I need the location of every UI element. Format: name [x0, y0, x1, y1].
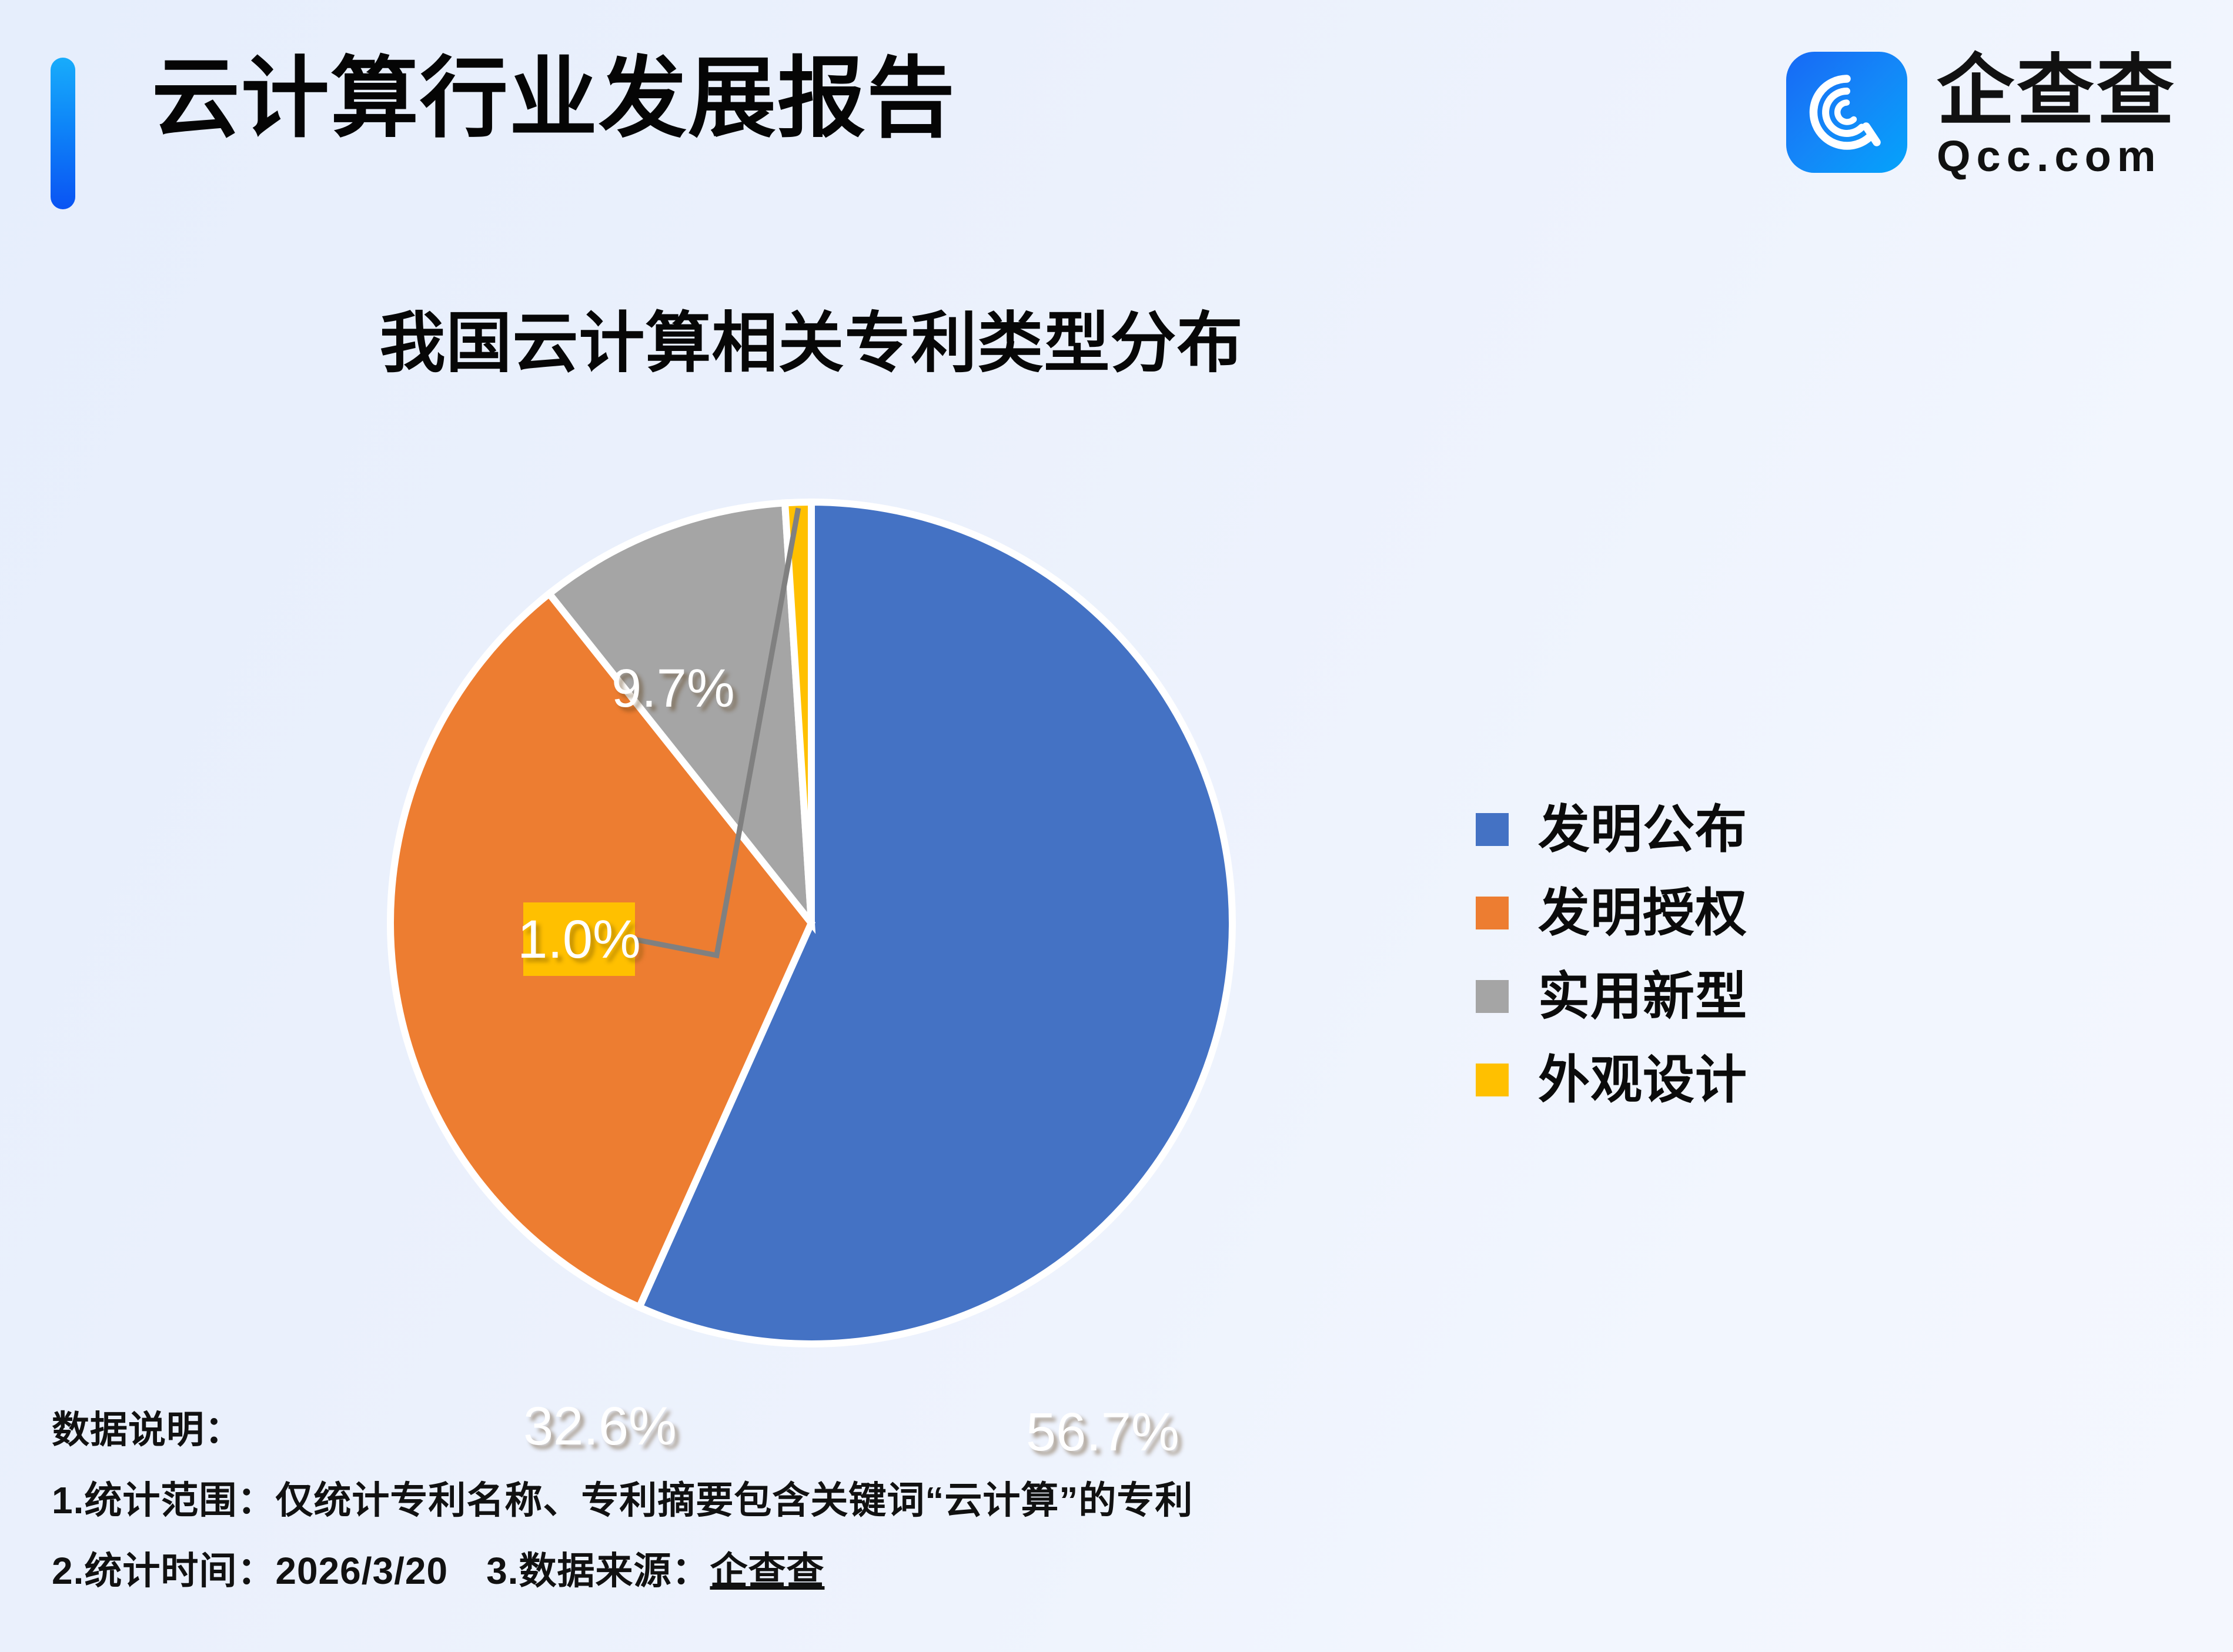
data-notes: 数据说明： 1.统计范围：仅统计专利名称、专利摘要包含关键词“云计算”的专利 2…	[52, 1411, 2051, 1590]
brand-url: Qcc.com	[1937, 135, 2177, 178]
legend-label: 实用新型	[1538, 971, 1747, 1022]
legend-item-fa-ming-gong-bu[interactable]: 发明公布	[1476, 788, 1887, 871]
qcc-spiral-logo-icon	[1786, 52, 1907, 173]
page-title: 云计算行业发展报告	[152, 54, 956, 142]
legend-item-wai-guan-she-ji[interactable]: 外观设计	[1476, 1038, 1887, 1122]
notes-line-time-source: 2.统计时间：2026/3/20 3.数据来源：企查查	[52, 1552, 2051, 1590]
legend-item-shi-yong-xin-xing[interactable]: 实用新型	[1476, 955, 1887, 1038]
page-header: 云计算行业发展报告 企查查 Qcc.com	[0, 0, 2233, 247]
brand-name-cn: 企查查	[1937, 52, 2177, 131]
pie-label-shi-yong-xin-xing: 9.7%	[611, 661, 735, 715]
pie-callout-label: 1.0%	[517, 912, 641, 967]
legend-swatch-icon	[1476, 1064, 1509, 1096]
chart-legend: 发明公布 发明授权 实用新型 外观设计	[1476, 788, 1887, 1122]
notes-time-prefix: 2.统计时间：2026/3/20 3.数据来源：	[52, 1550, 710, 1592]
legend-label: 发明授权	[1538, 887, 1747, 939]
legend-label: 发明公布	[1538, 804, 1747, 855]
pie-callout-wai-guan-she-ji: 1.0%	[523, 902, 635, 976]
legend-swatch-icon	[1476, 813, 1509, 846]
notes-line-scope: 1.统计范围：仅统计专利名称、专利摘要包含关键词“云计算”的专利	[52, 1482, 2051, 1519]
brand-logo: 企查查 Qcc.com	[1786, 52, 2177, 187]
legend-swatch-icon	[1476, 980, 1509, 1013]
legend-label: 外观设计	[1538, 1054, 1747, 1106]
pie-slices	[353, 464, 1270, 1382]
brand-text: 企查查 Qcc.com	[1937, 52, 2177, 178]
title-accent-bar	[51, 58, 75, 209]
notes-heading: 数据说明：	[52, 1411, 2051, 1449]
notes-source-link[interactable]: 企查查	[710, 1550, 824, 1592]
legend-item-fa-ming-shou-quan[interactable]: 发明授权	[1476, 871, 1887, 955]
legend-swatch-icon	[1476, 897, 1509, 929]
chart-title: 我国云计算相关专利类型分布	[0, 310, 1623, 376]
pie-chart: 56.7% 32.6% 9.7% 1.0%	[353, 464, 1270, 1382]
